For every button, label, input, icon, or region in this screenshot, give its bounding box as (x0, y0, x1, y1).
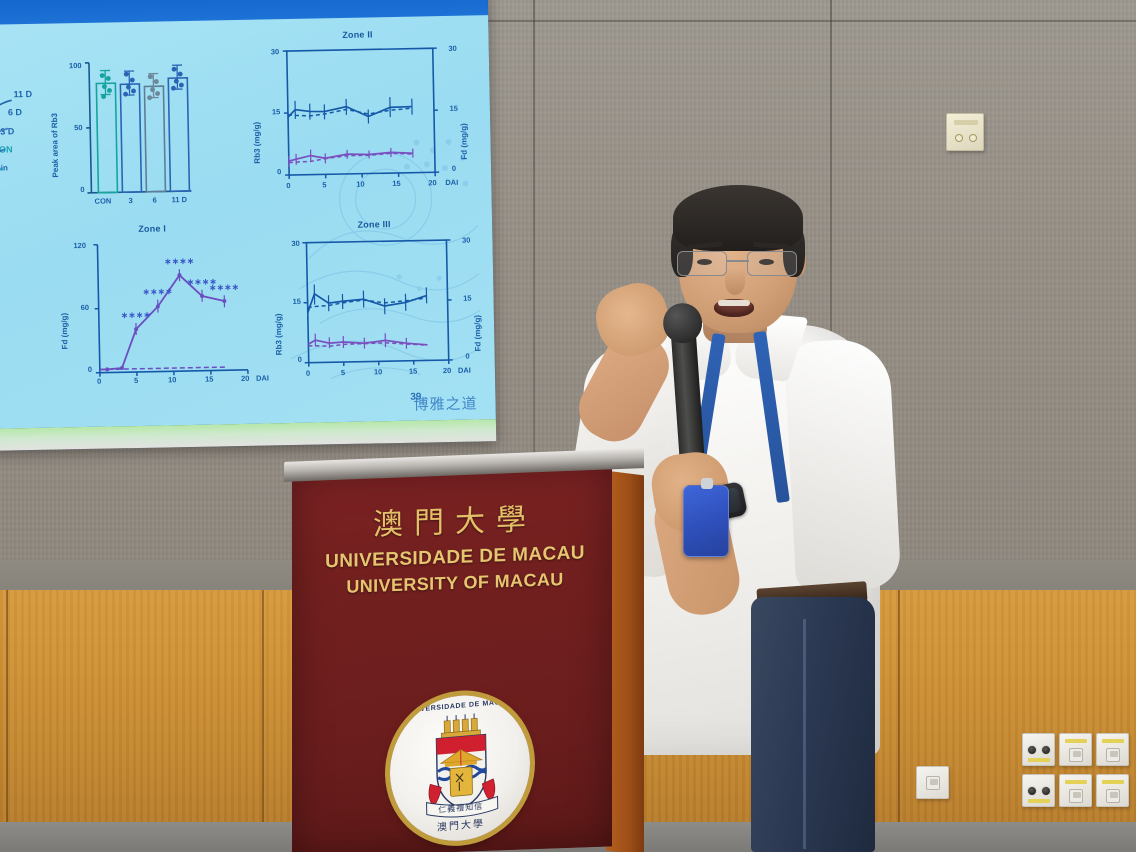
chart3-xtick-10: 10 (168, 375, 177, 384)
chart3-xtick-15: 15 (205, 375, 214, 384)
chart3-xtick-20: 20 (241, 374, 250, 383)
plate-label-strip (1065, 739, 1087, 743)
chart1-xtick-con: CON (95, 196, 112, 205)
chart2-xtick-0: 0 (286, 181, 290, 190)
wainscot-seam-1 (262, 590, 264, 825)
jack-icon-b (969, 134, 977, 142)
chart2-xtick-5: 5 (322, 180, 326, 189)
chart3-plot: ∗∗∗∗ ∗∗∗∗ ∗∗∗∗ ∗∗∗∗ ∗∗∗∗ (50, 221, 273, 405)
audio-data-wall-plate-grid[interactable] (1022, 733, 1130, 813)
chart-zone-iii: Zone III Rb3 (mg/g) Fd (mg/g) 30 15 0 30… (274, 217, 477, 401)
plate-label-strip (1028, 758, 1050, 762)
chart4-xtick-15: 15 (409, 367, 418, 376)
xlr-port-icon-1 (1027, 745, 1037, 755)
xlr-port-icon-2 (1041, 745, 1051, 755)
chart4-xlabel: DAI (458, 366, 471, 375)
svg-text:∗∗∗∗: ∗∗∗∗ (209, 283, 239, 294)
rj45-port-icon (1069, 748, 1083, 762)
av-wall-plate[interactable] (946, 113, 984, 151)
rj45-port-icon (1069, 789, 1083, 803)
chart4-xtick-20: 20 (443, 366, 452, 375)
chart4-xtick-0: 0 (306, 369, 310, 378)
svg-text:∗∗∗∗: ∗∗∗∗ (142, 287, 172, 298)
presentation-slide: 11 D 6 D 3 D CON 2 min Peak area of Rb3 … (0, 15, 496, 429)
trouser-crease (803, 619, 806, 849)
chromatogram-legend: 11 D 6 D 3 D CON 2 min (0, 90, 34, 182)
speaker-right-sleeve (784, 337, 902, 592)
plate-label-strip (1065, 780, 1087, 784)
rj45-port-icon (1106, 748, 1120, 762)
plate-label-strip (1102, 780, 1124, 784)
university-crest: UNIVERSIDADE DE MACAU (389, 690, 532, 847)
rj45-port-icon (926, 776, 940, 790)
chart3-xlabel: DAI (256, 373, 269, 382)
xlr-plate-bottom[interactable] (1022, 774, 1055, 807)
svg-text:∗∗∗∗: ∗∗∗∗ (164, 257, 194, 268)
plate-label-strip (1102, 739, 1124, 743)
chart3-xtick-0: 0 (97, 377, 101, 386)
glasses-bridge (727, 260, 749, 262)
data-plate-bottom-mid[interactable] (1059, 774, 1092, 807)
nose (725, 269, 745, 295)
projection-screen: 11 D 6 D 3 D CON 2 min Peak area of Rb3 … (0, 0, 496, 451)
plate-label-strip (1028, 799, 1050, 803)
wainscot-seam-3 (898, 590, 900, 825)
xlr-plate-top[interactable] (1022, 733, 1055, 766)
speaker-hair (673, 185, 803, 251)
chart-peak-area-rb3: Peak area of Rb3 100 50 0 (53, 43, 206, 211)
xlr-port-icon-3 (1027, 786, 1037, 796)
chart3-xtick-5: 5 (134, 376, 138, 385)
data-plate-bottom-right[interactable] (1096, 774, 1129, 807)
plate-label-strip (954, 120, 978, 125)
data-wall-plate[interactable] (916, 766, 949, 799)
chart2-xtick-10: 10 (356, 180, 365, 189)
badge-clip (701, 478, 713, 489)
xlr-port-icon-4 (1041, 786, 1051, 796)
chart4-xtick-10: 10 (374, 367, 383, 376)
mouth (714, 299, 754, 317)
trousers (751, 597, 875, 852)
chart-zone-i: Zone I Fd (mg/g) 120 60 0 (50, 221, 273, 405)
teeth (718, 300, 750, 306)
chart1-plot (53, 43, 206, 211)
lectern-name-english: UNIVERSITY OF MACAU (310, 568, 600, 599)
chromatogram-traces-icon (0, 86, 29, 183)
slide-logo-text: 博雅之道 (413, 392, 477, 414)
chart-zone-ii: Zone II Rb3 (mg/g) Fd (mg/g) 30 15 0 30 … (252, 28, 465, 212)
data-plate-top-right[interactable] (1096, 733, 1129, 766)
id-badge[interactable] (683, 485, 729, 557)
wainscot-seam-2 (6, 590, 8, 825)
chart4-xtick-5: 5 (341, 368, 345, 377)
chart2-xtick-20: 20 (428, 178, 437, 187)
lens-left (677, 251, 727, 276)
lens-right (747, 251, 797, 276)
lectern-front-panel: 澳門大學 UNIVERSIDADE DE MACAU UNIVERSITY OF… (292, 462, 612, 852)
chart1-xtick-11d: 11 D (172, 195, 188, 204)
chart2-xlabel: DAI (445, 178, 458, 187)
lectern-name-chinese: 澳門大學 (310, 501, 600, 544)
svg-text:∗∗∗∗: ∗∗∗∗ (121, 311, 151, 322)
chart2-xtick-15: 15 (392, 179, 401, 188)
lectern: 澳門大學 UNIVERSIDADE DE MACAU UNIVERSITY OF… (284, 455, 644, 852)
conference-room-scene: 11 D 6 D 3 D CON 2 min Peak area of Rb3 … (0, 0, 1136, 852)
lectern-nameplate: 澳門大學 UNIVERSIDADE DE MACAU UNIVERSITY OF… (310, 501, 600, 599)
rj45-port-icon (1106, 789, 1120, 803)
data-plate-top-mid[interactable] (1059, 733, 1092, 766)
chart1-xtick-6: 6 (153, 196, 157, 205)
chart1-xtick-3: 3 (129, 196, 133, 205)
jack-icon-a (955, 134, 963, 142)
